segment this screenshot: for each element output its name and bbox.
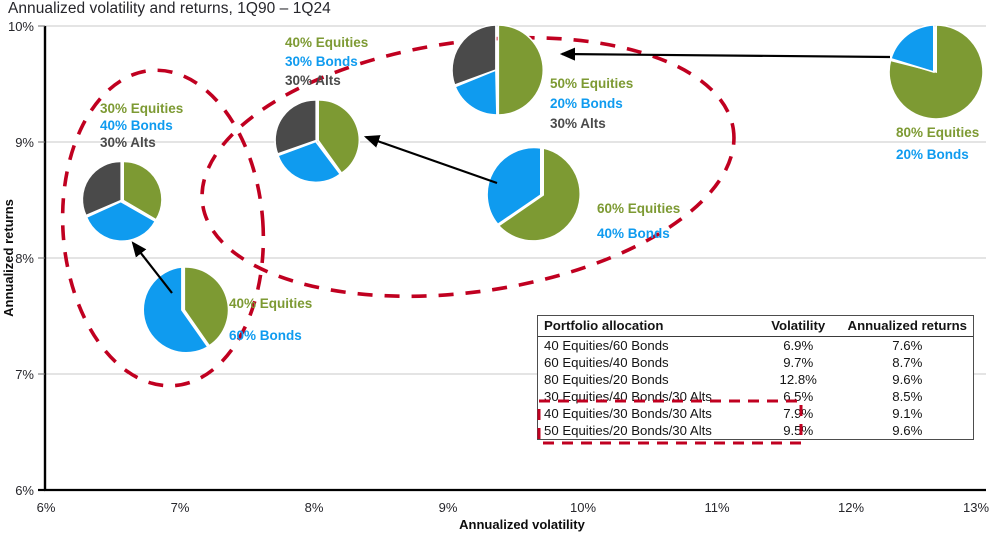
cell-allocation: 80 Equities/20 Bonds [538, 371, 755, 388]
pie-40-equities-60-bonds[interactable] [143, 267, 228, 353]
label-alts: 30% Alts [550, 116, 606, 131]
label-bonds: 20% Bonds [896, 147, 969, 162]
cell-volatility: 9.5% [755, 422, 842, 439]
y-tick-label-0: 10% [8, 19, 34, 34]
table-row[interactable]: 40 Equities/60 Bonds 6.9% 7.6% [538, 337, 973, 355]
portfolio-allocation-table: Portfolio allocation Volatility Annualiz… [537, 315, 974, 440]
x-tick-label-0: 6% [37, 500, 56, 515]
table-row[interactable]: 40 Equities/30 Bonds/30 Alts 7.9% 9.1% [538, 405, 973, 422]
pie-60-equities-40-bonds[interactable] [487, 148, 580, 241]
label-alts: 30% Alts [100, 135, 156, 150]
label-equities: 30% Equities [100, 101, 183, 116]
label-bonds: 20% Bonds [550, 96, 623, 111]
label-equities: 50% Equities [550, 76, 633, 91]
cell-returns: 8.7% [842, 354, 973, 371]
cell-volatility: 7.9% [755, 405, 842, 422]
x-tick-label-6: 12% [838, 500, 864, 515]
cell-returns: 8.5% [842, 388, 973, 405]
label-bonds: 30% Bonds [285, 54, 358, 69]
cell-allocation: 40 Equities/60 Bonds [538, 337, 755, 355]
chart-canvas: 10% 9% 8% 7% 6% 6% 7% 8% 9% 10% 11% 12% … [0, 0, 994, 537]
cell-allocation: 50 Equities/20 Bonds/30 Alts [538, 422, 755, 439]
cell-returns: 7.6% [842, 337, 973, 355]
label-equities: 80% Equities [896, 125, 979, 140]
x-tick-label-2: 8% [305, 500, 324, 515]
label-bonds: 40% Bonds [100, 118, 173, 133]
table-row[interactable]: 80 Equities/20 Bonds 12.8% 9.6% [538, 371, 973, 388]
label-bonds: 60% Bonds [229, 328, 302, 343]
x-tick-label-5: 11% [704, 500, 729, 515]
y-tick-label-3: 7% [15, 367, 34, 382]
table-header-returns: Annualized returns [842, 316, 973, 337]
cell-allocation: 40 Equities/30 Bonds/30 Alts [538, 405, 755, 422]
x-tick-label-4: 10% [570, 500, 596, 515]
cell-returns: 9.6% [842, 422, 973, 439]
label-bonds: 40% Bonds [597, 226, 670, 241]
cell-volatility: 6.9% [755, 337, 842, 355]
cell-allocation: 60 Equities/40 Bonds [538, 354, 755, 371]
y-axis-title: Annualized returns [1, 199, 16, 317]
cell-allocation: 30 Equities/40 Bonds/30 Alts [538, 388, 755, 405]
table-header-allocation: Portfolio allocation [538, 316, 755, 337]
x-tick-label-1: 7% [171, 500, 190, 515]
pie-50-equities-20-bonds-30-alts[interactable] [452, 25, 543, 115]
pie-80-equities-20-bonds[interactable] [889, 25, 983, 119]
y-tick-label-2: 8% [15, 251, 34, 266]
label-equities: 40% Equities [285, 35, 368, 50]
label-equities: 60% Equities [597, 201, 680, 216]
cell-volatility: 6.5% [755, 388, 842, 405]
x-axis-title: Annualized volatility [459, 517, 585, 532]
cell-volatility: 9.7% [755, 354, 842, 371]
label-equities: 40% Equities [229, 296, 312, 311]
table-row[interactable]: 60 Equities/40 Bonds 9.7% 8.7% [538, 354, 973, 371]
y-tick-label-1: 9% [15, 135, 34, 150]
chart-root: Annualized volatility and returns, 1Q90 … [0, 0, 994, 537]
table-row[interactable]: 50 Equities/20 Bonds/30 Alts 9.5% 9.6% [538, 422, 973, 439]
table-row[interactable]: 30 Equities/40 Bonds/30 Alts 6.5% 8.5% [538, 388, 973, 405]
table-header-volatility: Volatility [755, 316, 842, 337]
y-tick-label-4: 6% [15, 483, 34, 498]
table-header-row: Portfolio allocation Volatility Annualiz… [538, 316, 973, 337]
label-alts: 30% Alts [285, 73, 341, 88]
x-tick-label-7: 13% [963, 500, 989, 515]
cell-returns: 9.1% [842, 405, 973, 422]
cell-returns: 9.6% [842, 371, 973, 388]
x-tick-label-3: 9% [439, 500, 458, 515]
cell-volatility: 12.8% [755, 371, 842, 388]
